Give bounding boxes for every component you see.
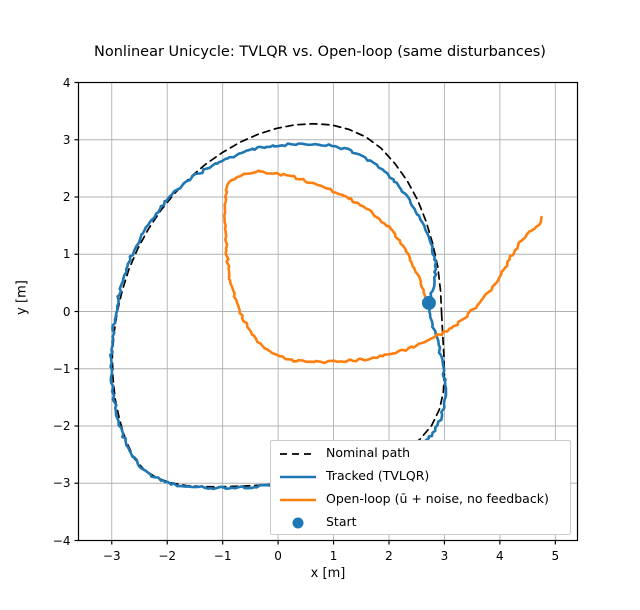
legend-item[interactable]: Nominal path — [271, 441, 570, 464]
solid-blue-line-swatch — [279, 469, 317, 483]
x-tick-label: 5 — [551, 549, 559, 563]
legend-item[interactable]: Open-loop (ū + noise, no feedback) — [271, 487, 570, 510]
x-tick-label: −3 — [103, 549, 121, 563]
legend-label: Nominal path — [326, 445, 410, 460]
start-marker — [422, 296, 436, 310]
y-tick-label: −1 — [39, 362, 71, 376]
solid-orange-line-swatch — [279, 492, 317, 506]
y-tick-label: −3 — [39, 476, 71, 490]
x-tick-label: −2 — [158, 549, 176, 563]
x-tick-label: 2 — [385, 549, 393, 563]
series-line-3 — [224, 171, 541, 363]
y-tick-label: 1 — [39, 247, 71, 261]
legend-item[interactable]: Tracked (TVLQR) — [271, 464, 570, 487]
x-tick-label: −1 — [214, 549, 232, 563]
legend-label: Tracked (TVLQR) — [326, 468, 429, 483]
y-tick-label: 3 — [39, 133, 71, 147]
x-tick-label: 1 — [330, 549, 338, 563]
legend-item[interactable]: Start — [271, 510, 570, 533]
y-tick-label: 2 — [39, 190, 71, 204]
legend: Nominal pathTracked (TVLQR)Open-loop (ū … — [270, 440, 571, 535]
series-paths — [110, 124, 541, 489]
y-tick-label: −2 — [39, 419, 71, 433]
blue-dot-swatch — [279, 515, 317, 529]
y-tick-label: 4 — [39, 76, 71, 90]
legend-label: Start — [326, 514, 357, 529]
legend-label: Open-loop (ū + noise, no feedback) — [326, 491, 549, 506]
figure-canvas: Nonlinear Unicycle: TVLQR vs. Open-loop … — [0, 0, 640, 610]
y-tick-label: −4 — [39, 534, 71, 548]
x-tick-label: 0 — [274, 549, 282, 563]
x-tick-label: 4 — [496, 549, 504, 563]
x-tick-label: 3 — [441, 549, 449, 563]
y-axis-label: y [m] — [15, 258, 30, 338]
y-tick-label: 0 — [39, 305, 71, 319]
x-axis-label: x [m] — [78, 566, 578, 581]
dashed-line-swatch — [279, 446, 317, 460]
